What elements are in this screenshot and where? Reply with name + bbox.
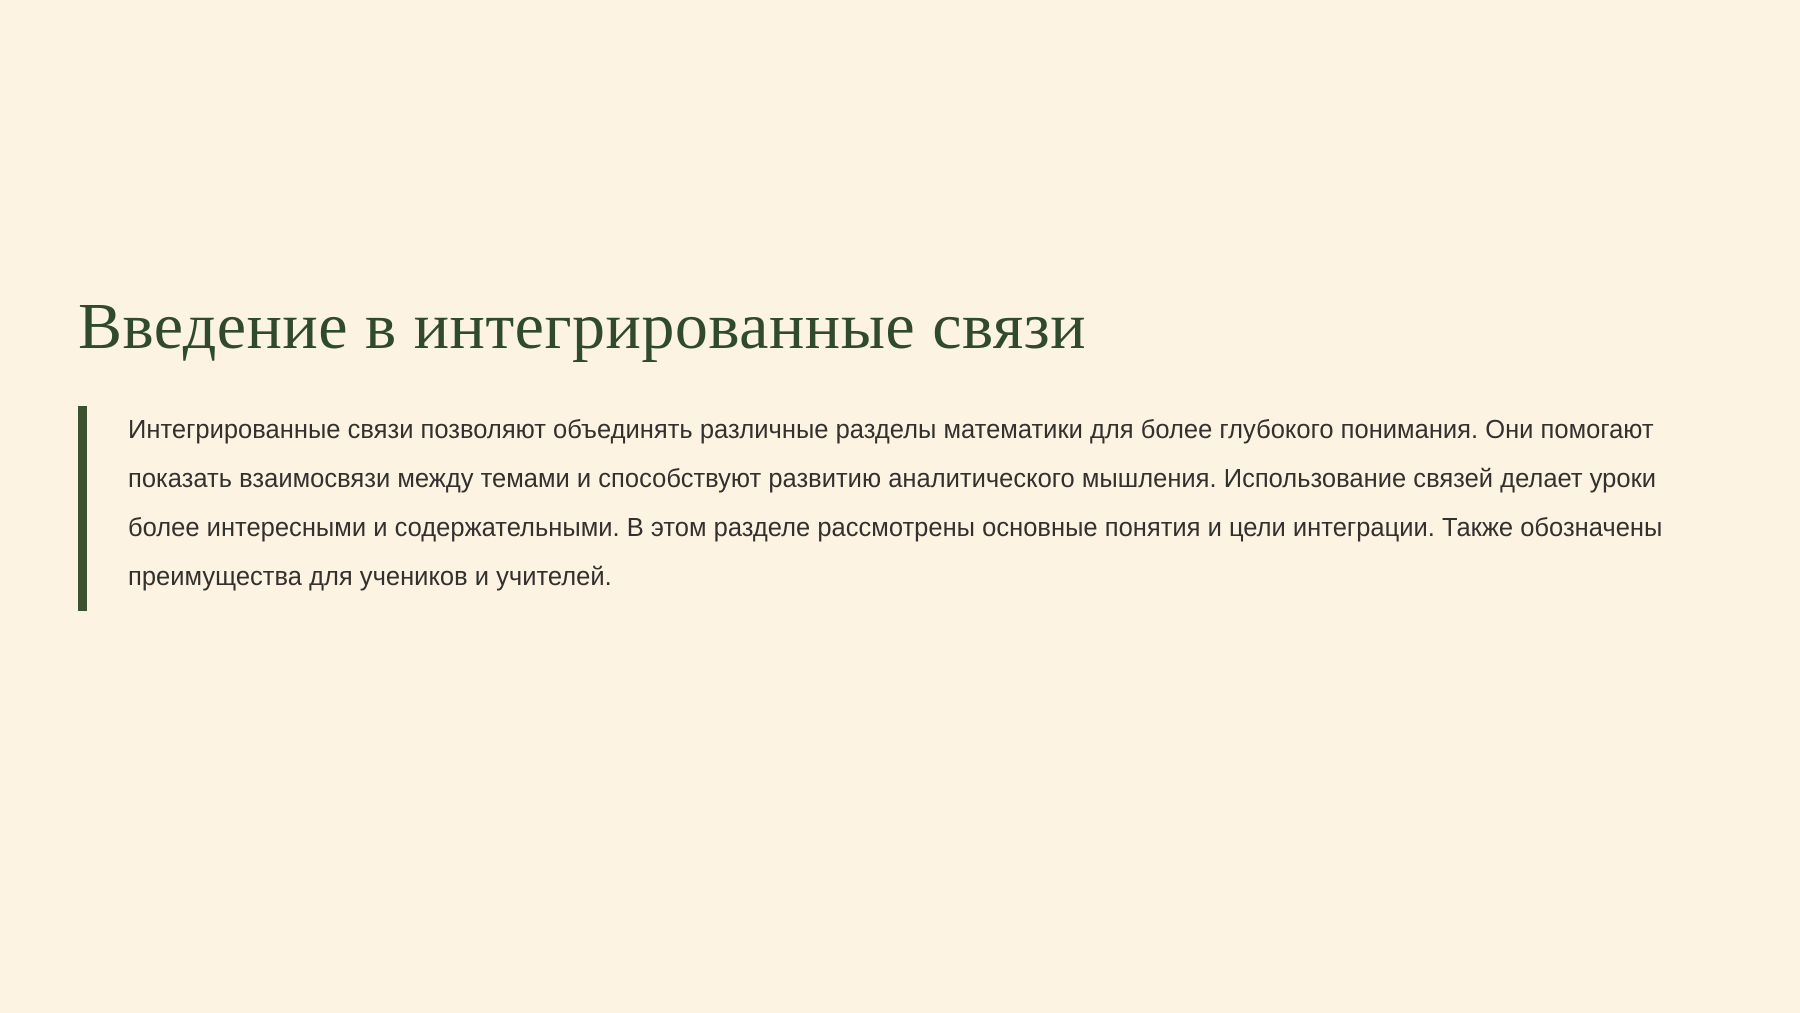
page-title: Введение в интегрированные связи — [78, 290, 1730, 364]
slide-canvas: Введение в интегрированные связи Интегри… — [0, 0, 1800, 1013]
accent-bar — [78, 406, 87, 611]
slide-content: Введение в интегрированные связи Интегри… — [78, 290, 1730, 602]
body-quote-block: Интегрированные связи позволяют объединя… — [78, 406, 1730, 602]
body-paragraph: Интегрированные связи позволяют объединя… — [128, 406, 1730, 602]
